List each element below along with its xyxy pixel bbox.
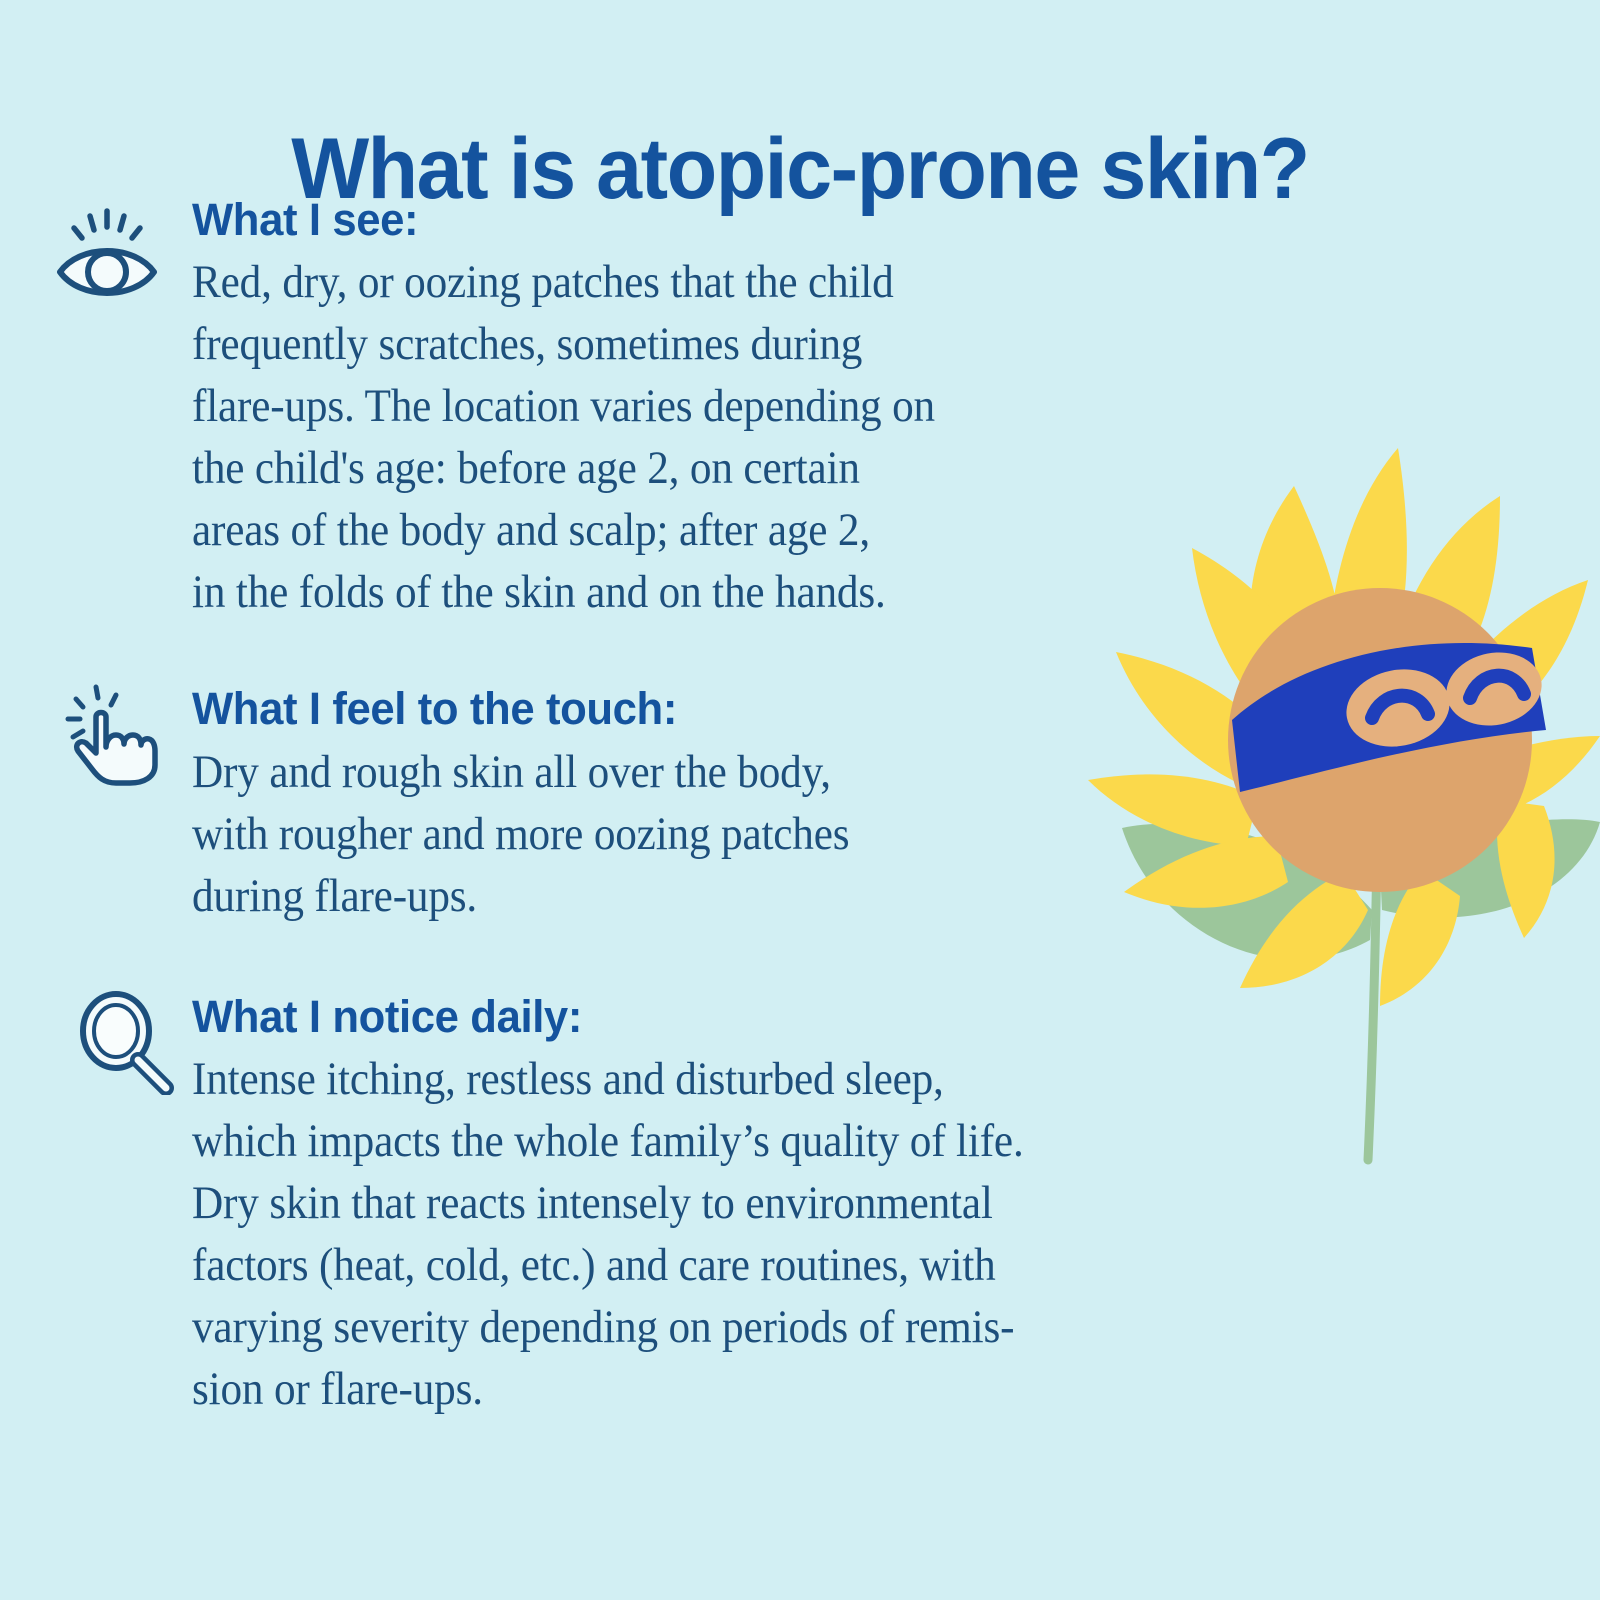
flower-eye-left (1372, 696, 1428, 718)
content-area: What I see: Red, dry, or oozing patches … (0, 196, 1380, 1420)
pointing-hand-icon (58, 679, 166, 787)
section-body: Intense itching, restless and disturbed … (192, 1048, 1285, 1420)
section-heading: What I notice daily: (192, 993, 1344, 1040)
magnifying-glass-icon (72, 987, 180, 1095)
section-body: Dry and rough skin all over the body, wi… (192, 741, 1285, 927)
section-what-i-notice: What I notice daily: Intense itching, re… (0, 993, 1380, 1420)
eye-icon (52, 200, 160, 308)
flower-leaf-right (1380, 819, 1600, 917)
section-what-i-see: What I see: Red, dry, or oozing patches … (0, 196, 1380, 623)
flower-eye-right-socket (1440, 645, 1548, 734)
infographic-poster: What is atopic-prone skin? What I s (0, 0, 1600, 1600)
flower-eye-right (1470, 676, 1524, 698)
section-heading: What I see: (192, 196, 1344, 243)
section-heading: What I feel to the touch: (192, 685, 1344, 732)
section-what-i-feel: What I feel to the touch: Dry and rough … (0, 685, 1380, 926)
section-body: Red, dry, or oozing patches that the chi… (192, 251, 1285, 623)
